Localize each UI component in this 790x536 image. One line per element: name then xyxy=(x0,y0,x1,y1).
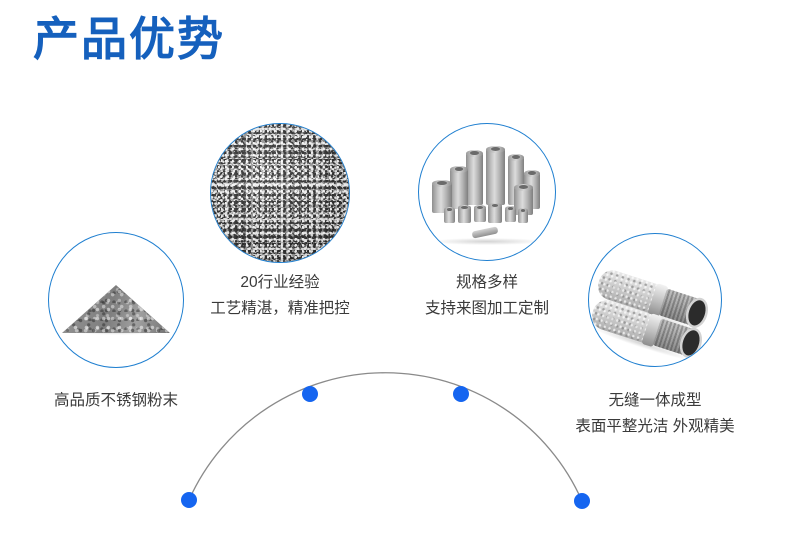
feature-caption-seamless-forming: 无缝一体成型 表面平整光洁 外观精美 xyxy=(535,388,775,440)
sintered-porous-texture-icon xyxy=(211,124,349,262)
product-advantage-banner: 产品优势 高品质不锈钢粉末 20行业经验 工艺 xyxy=(0,0,790,536)
arc-dot-right xyxy=(574,493,590,509)
arc-dot-mid-right xyxy=(453,386,469,402)
feature-caption-stainless-steel-powder: 高品质不锈钢粉末 xyxy=(0,388,232,414)
feature-caption-industry-experience: 20行业经验 工艺精湛，精准把控 xyxy=(160,270,400,322)
caption-line: 表面平整光洁 外观精美 xyxy=(535,414,775,440)
arc-dot-mid-left xyxy=(302,386,318,402)
arc-line xyxy=(189,373,582,501)
page-title: 产品优势 xyxy=(33,12,225,67)
arc-dot-left xyxy=(181,492,197,508)
feature-circle-industry-experience[interactable] xyxy=(210,123,350,263)
caption-line: 无缝一体成型 xyxy=(535,388,775,414)
feature-circle-specification-variety[interactable] xyxy=(418,123,556,261)
feature-caption-specification-variety: 规格多样 支持来图加工定制 xyxy=(367,270,607,322)
feature-circle-seamless-forming[interactable] xyxy=(588,233,722,367)
caption-line: 工艺精湛，精准把控 xyxy=(160,296,400,322)
caption-line: 规格多样 xyxy=(367,270,607,296)
caption-line: 20行业经验 xyxy=(160,270,400,296)
caption-line: 支持来图加工定制 xyxy=(367,296,607,322)
caption-line: 高品质不锈钢粉末 xyxy=(0,388,232,414)
sintered-filter-elements-icon xyxy=(589,234,721,366)
sintered-metal-tubes-icon xyxy=(419,124,555,260)
